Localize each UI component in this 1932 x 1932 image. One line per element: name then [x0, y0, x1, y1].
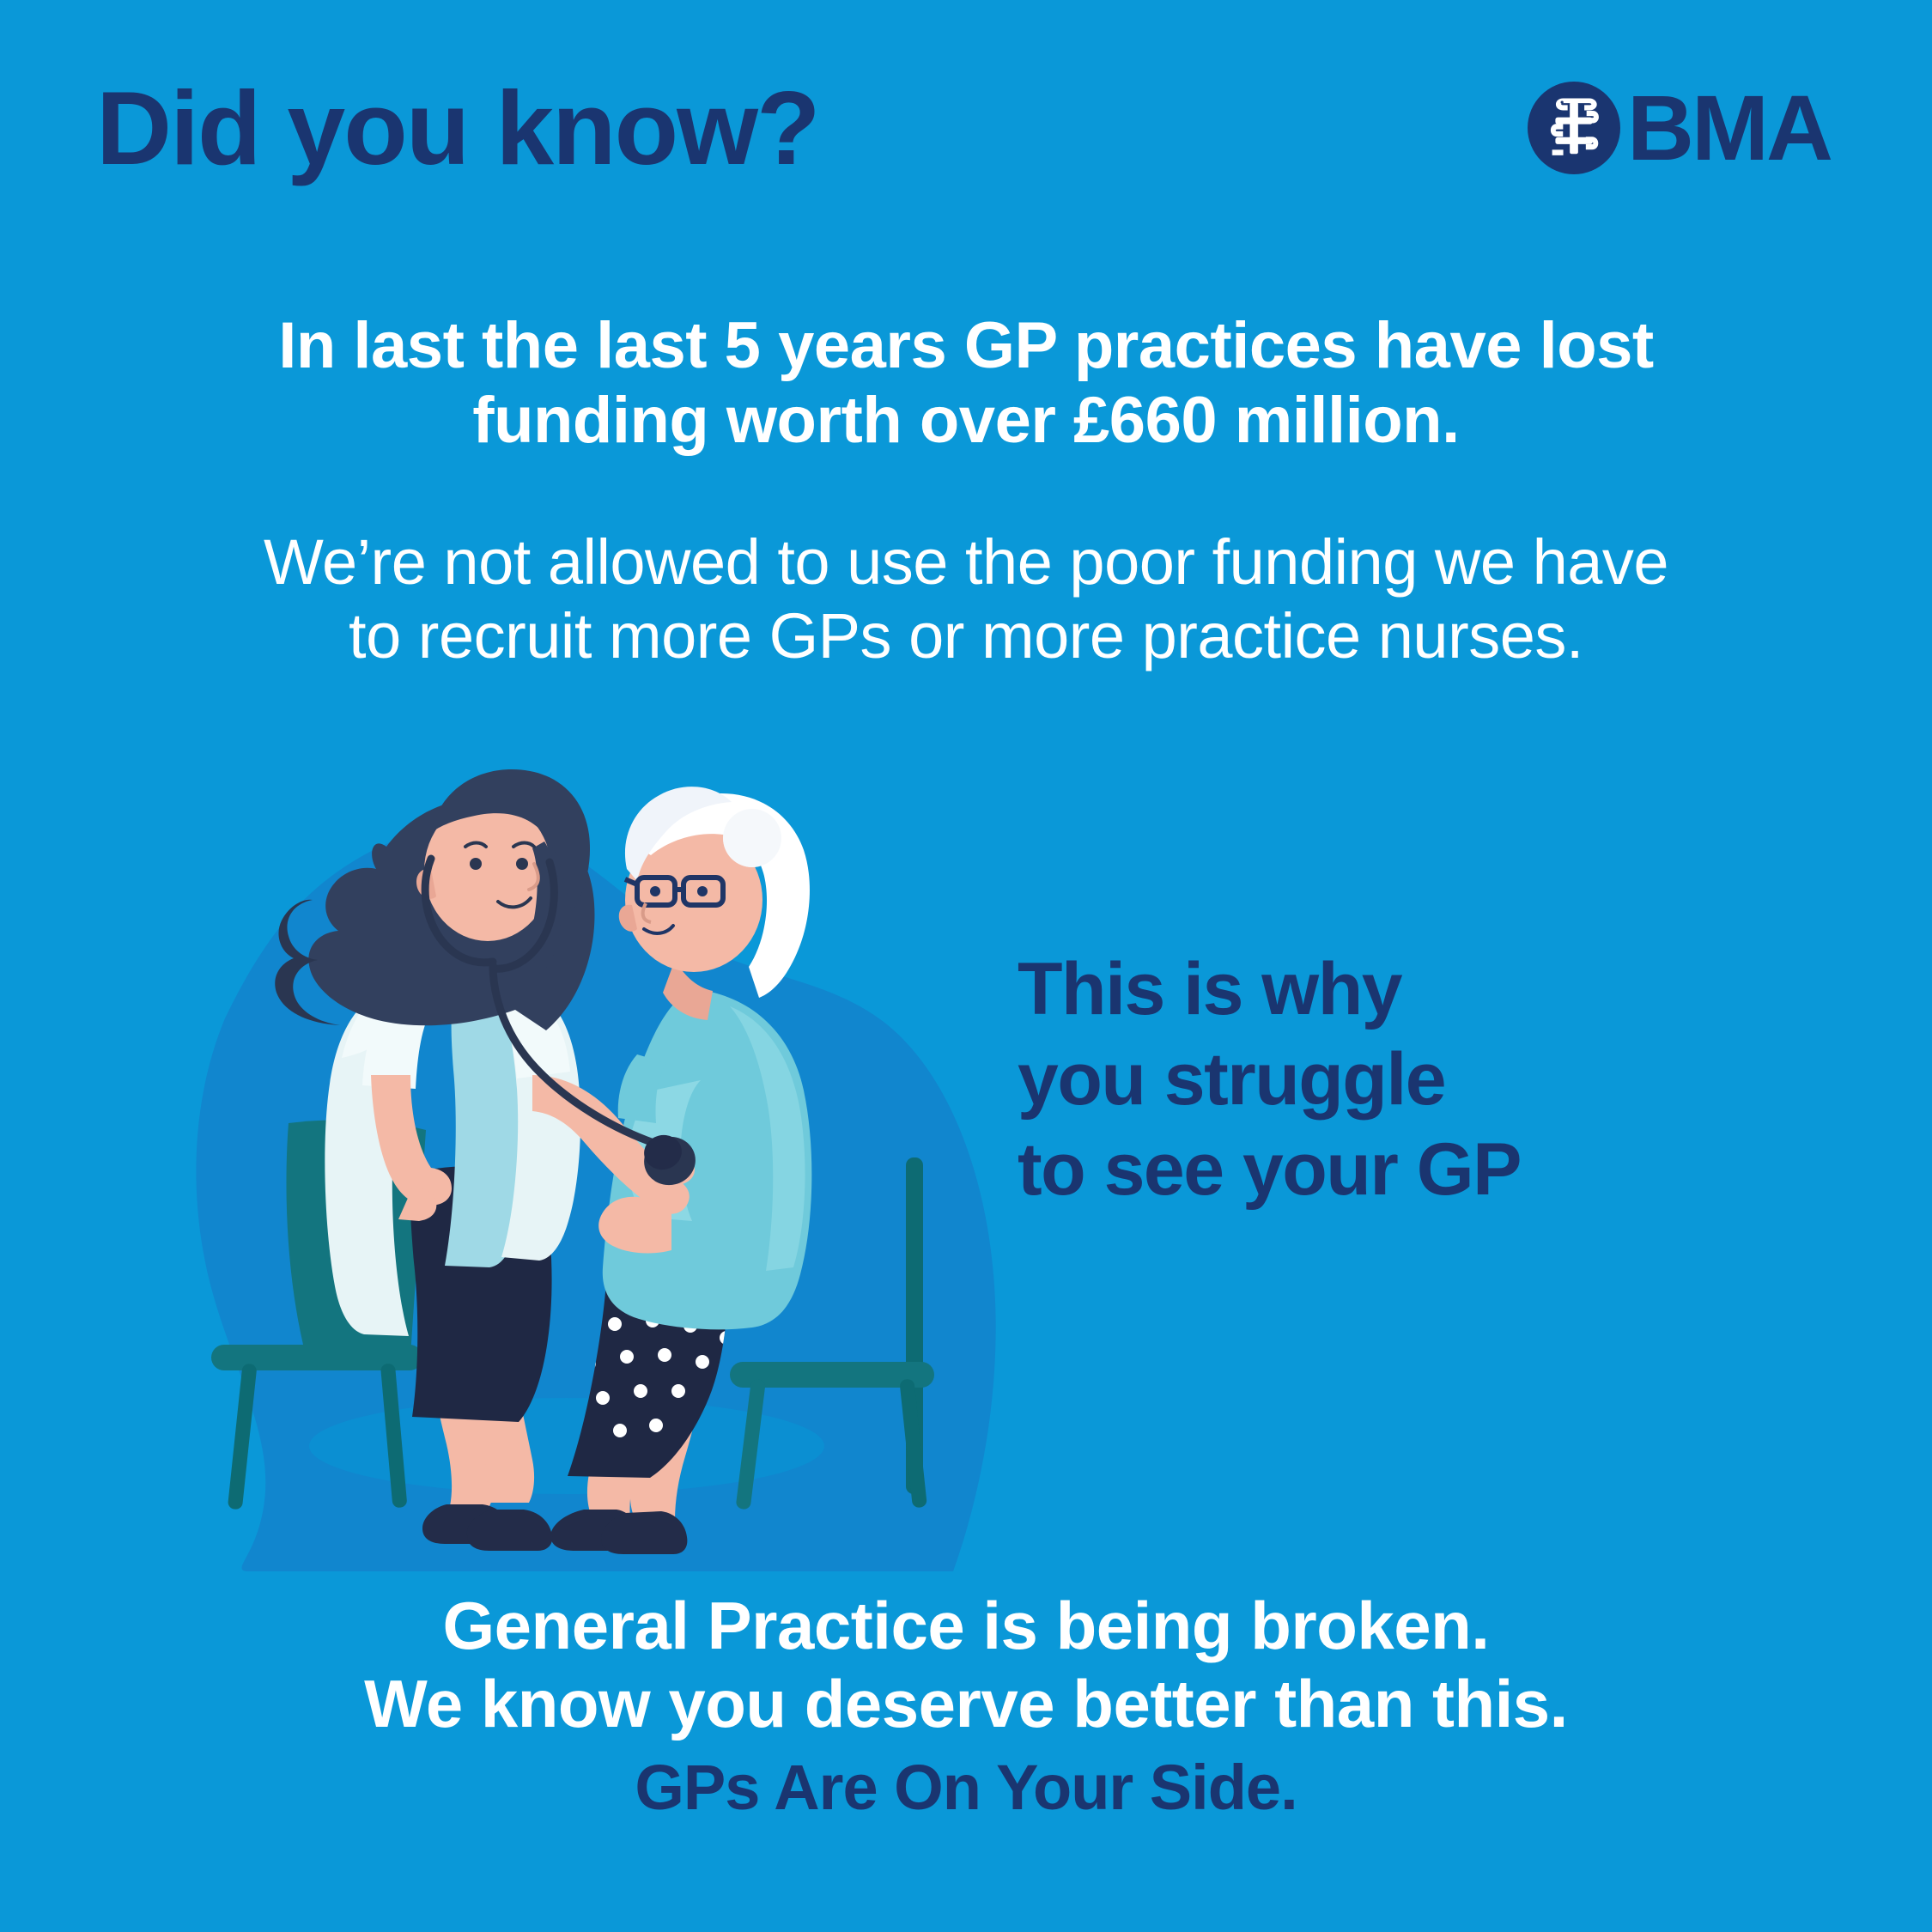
pullquote-line-3: to see your GP — [1018, 1125, 1790, 1215]
poster-footer: General Practice is being broken. We kno… — [0, 1587, 1932, 1822]
lede-line-1: In last the last 5 years GP practices ha… — [150, 309, 1782, 384]
campaign-tagline: GPs Are On Your Side. — [0, 1753, 1932, 1822]
poster-header: Did you know? — [0, 72, 1932, 184]
bma-serpent-staff-emblem-icon — [1528, 82, 1620, 174]
lede-line-2: funding worth over £660 million. — [150, 384, 1782, 459]
subcopy-line-2: to recruit more GPs or more practice nur… — [107, 599, 1825, 673]
pullquote-line-2: you struggle — [1018, 1035, 1790, 1125]
doctor-eye-right — [516, 858, 528, 870]
pullquote-line-1: This is why — [1018, 945, 1790, 1035]
doctor-patient-illustration — [129, 687, 1013, 1571]
footer-line-1: General Practice is being broken. — [0, 1587, 1932, 1665]
pullquote: This is why you struggle to see your GP — [1018, 945, 1790, 1215]
patient-eye-left — [650, 886, 660, 896]
subcopy-statement: We’re not allowed to use the poor fundin… — [107, 526, 1825, 673]
poster-canvas: Did you know? — [0, 0, 1932, 1932]
subcopy-line-1: We’re not allowed to use the poor fundin… — [107, 526, 1825, 599]
page-title: Did you know? — [96, 76, 819, 180]
footer-line-2: We know you deserve better than this. — [0, 1665, 1932, 1743]
bma-logo: BMA — [1528, 82, 1831, 174]
bma-wordmark: BMA — [1627, 82, 1831, 174]
patient-eye-right — [697, 886, 708, 896]
lede-statement: In last the last 5 years GP practices ha… — [150, 309, 1782, 458]
doctor-shoe-near — [467, 1510, 552, 1551]
doctor-eye-left — [470, 858, 482, 870]
